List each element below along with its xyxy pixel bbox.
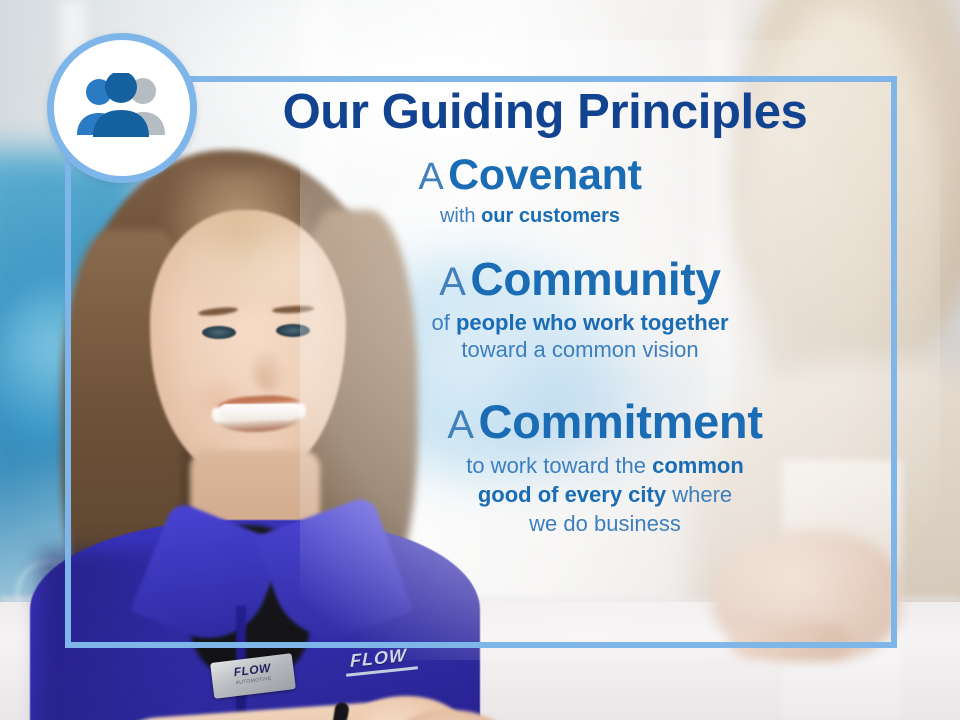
principle-block-community: A Community of people who work togethert… — [210, 256, 880, 363]
banner-graphic: FLOW AUTOMOTIVE FLOW — [0, 0, 960, 720]
plain-text: toward a common vision — [461, 337, 698, 362]
principle-subtext: with our customers — [210, 204, 850, 228]
principle-keyword: Covenant — [448, 151, 642, 199]
principle-subtext-line: good of every city where — [330, 481, 880, 510]
people-group-icon — [75, 73, 169, 143]
principle-block-covenant: A Covenant with our customers — [210, 153, 880, 228]
principle-heading: A Covenant — [210, 153, 850, 198]
principle-article: A — [439, 260, 466, 304]
principle-subtext-line: toward a common vision — [280, 337, 880, 364]
emphasis-text: common — [652, 453, 744, 478]
principle-subtext: to work toward the commongood of every c… — [330, 452, 880, 538]
plain-text: with — [440, 205, 481, 227]
principle-keyword: Commitment — [478, 395, 762, 448]
principle-article: A — [447, 403, 474, 447]
principle-heading: A Community — [280, 256, 880, 304]
principle-heading: A Commitment — [330, 398, 880, 447]
principle-article: A — [418, 156, 443, 198]
emphasis-text: good of every city — [478, 482, 666, 507]
principle-subtext: of people who work togethertoward a comm… — [280, 310, 880, 364]
blurred-customer-finger — [730, 624, 850, 658]
principle-subtext-line: we do business — [330, 510, 880, 539]
principle-subtext-line: with our customers — [210, 204, 850, 228]
plain-text: we do business — [529, 511, 681, 536]
plain-text: where — [666, 482, 732, 507]
principle-block-commitment: A Commitment to work toward the commongo… — [210, 398, 880, 539]
plain-text: to work toward the — [466, 453, 652, 478]
principle-keyword: Community — [470, 253, 720, 305]
principle-subtext-line: to work toward the common — [330, 452, 880, 481]
principles-content: Our Guiding Principles A Covenant with o… — [210, 88, 880, 538]
emphasis-text: our customers — [481, 205, 620, 227]
people-group-badge — [47, 33, 197, 183]
page-title: Our Guiding Principles — [210, 88, 880, 137]
plain-text: of — [431, 310, 455, 335]
emphasis-text: people who work together — [456, 310, 729, 335]
principle-subtext-line: of people who work together — [280, 310, 880, 337]
